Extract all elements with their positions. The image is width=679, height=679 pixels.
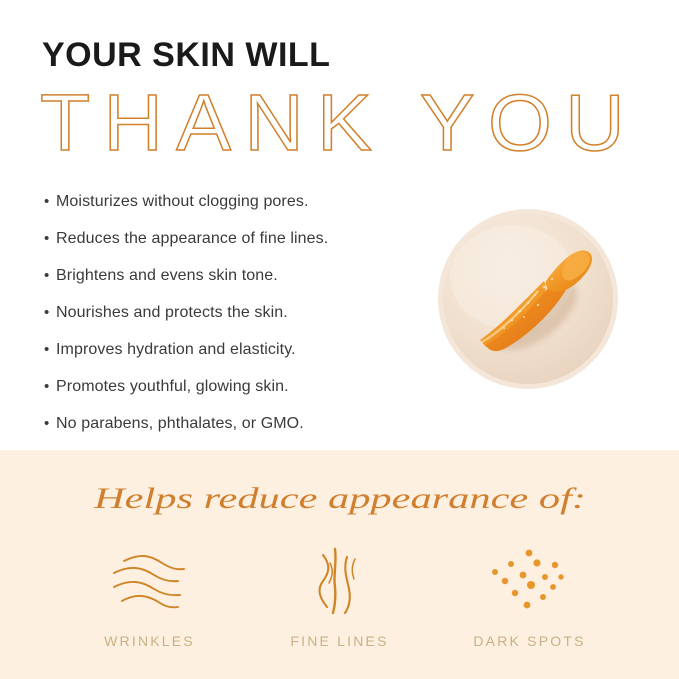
dark-spots-icon [487, 545, 573, 617]
bullet-marker: • [44, 377, 56, 397]
list-item-label: No parabens, phthalates, or GMO. [56, 414, 304, 434]
list-item-label: Nourishes and protects the skin. [56, 303, 288, 323]
headline-secondary: THANK YOU [40, 82, 640, 162]
list-item: • No parabens, phthalates, or GMO. [44, 414, 434, 434]
list-item-label: Reduces the appearance of fine lines. [56, 229, 328, 249]
list-item: • Promotes youthful, glowing skin. [44, 377, 434, 397]
bullet-marker: • [44, 266, 56, 286]
promo-page: YOUR SKIN WILL THANK YOU • Moisturizes w… [0, 0, 679, 679]
list-item: • Brightens and evens skin tone. [44, 266, 434, 286]
feature-icon-row: WRINKLES FINE LINES [0, 545, 679, 649]
feature-dark-spots: DARK SPOTS [435, 545, 625, 649]
feature-wrinkles: WRINKLES [55, 545, 245, 649]
list-item: • Moisturizes without clogging pores. [44, 192, 434, 212]
svg-text:Helps reduce appearance of:: Helps reduce appearance of: [92, 482, 585, 515]
feature-label: DARK SPOTS [473, 633, 585, 649]
bullet-marker: • [44, 192, 56, 212]
headline-primary: YOUR SKIN WILL [42, 38, 330, 72]
svg-text:THANK YOU: THANK YOU [40, 78, 638, 167]
feature-label: FINE LINES [290, 633, 388, 649]
feature-fine-lines: FINE LINES [245, 545, 435, 649]
list-item-label: Promotes youthful, glowing skin. [56, 377, 289, 397]
list-item: • Nourishes and protects the skin. [44, 303, 434, 323]
wrinkle-lines-icon [102, 545, 198, 617]
script-heading: Helps reduce appearance of: [0, 478, 679, 527]
list-item: • Improves hydration and elasticity. [44, 340, 434, 360]
benefits-list: • Moisturizes without clogging pores. • … [44, 192, 434, 451]
orange-peel-on-dish-icon [434, 205, 622, 393]
list-item-label: Moisturizes without clogging pores. [56, 192, 309, 212]
fine-lines-icon [305, 545, 375, 617]
bullet-marker: • [44, 303, 56, 323]
list-item: • Reduces the appearance of fine lines. [44, 229, 434, 249]
bullet-marker: • [44, 414, 56, 434]
bullet-marker: • [44, 340, 56, 360]
benefits-section: YOUR SKIN WILL THANK YOU • Moisturizes w… [0, 0, 679, 450]
list-item-label: Improves hydration and elasticity. [56, 340, 296, 360]
bullet-marker: • [44, 229, 56, 249]
helps-reduce-section: Helps reduce appearance of: WRINK [0, 450, 679, 679]
feature-label: WRINKLES [104, 633, 195, 649]
list-item-label: Brightens and evens skin tone. [56, 266, 278, 286]
